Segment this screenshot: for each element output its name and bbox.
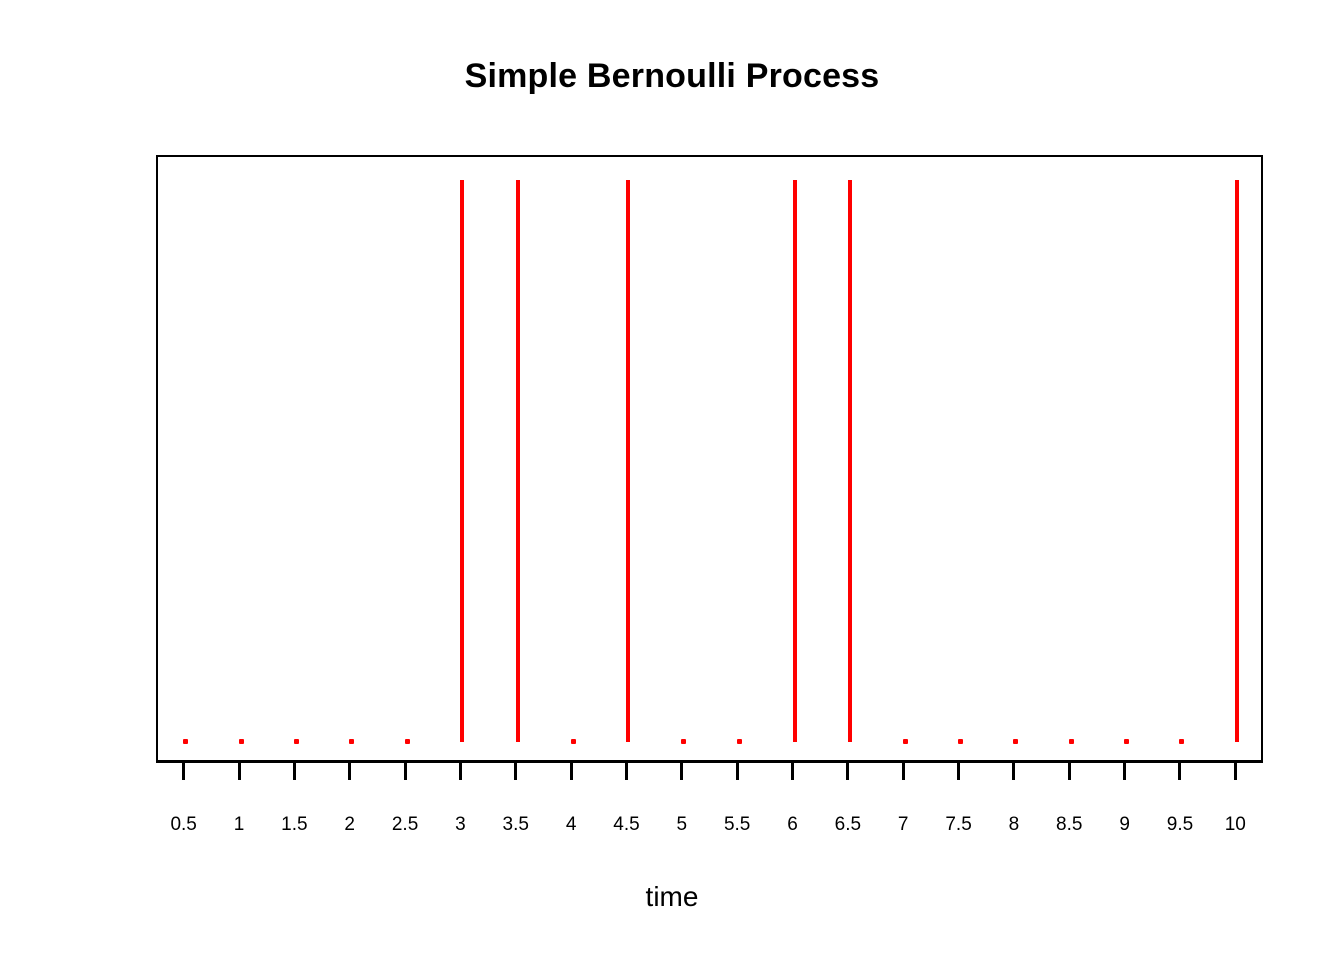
event-spike (460, 180, 464, 742)
plot-box (156, 155, 1263, 762)
x-tick (736, 762, 739, 780)
plot-root: Simple Bernoulli Process 0.511.522.533.5… (0, 0, 1344, 960)
event-dot (1179, 739, 1184, 744)
event-dot (183, 739, 188, 744)
event-dot (1069, 739, 1074, 744)
x-tick (625, 762, 628, 780)
plot-area (158, 157, 1261, 760)
x-tick (182, 762, 185, 780)
x-tick-label: 0.5 (170, 814, 196, 836)
x-tick-label: 8.5 (1056, 814, 1082, 836)
x-tick-label: 2 (344, 814, 355, 836)
x-tick (791, 762, 794, 780)
event-dot (405, 739, 410, 744)
x-tick (957, 762, 960, 780)
event-dot (294, 739, 299, 744)
x-tick-label: 6.5 (835, 814, 861, 836)
x-tick (1234, 762, 1237, 780)
x-tick (514, 762, 517, 780)
x-tick-label: 9 (1119, 814, 1130, 836)
x-tick (348, 762, 351, 780)
x-tick-label: 3.5 (503, 814, 529, 836)
x-tick (902, 762, 905, 780)
event-dot (737, 739, 742, 744)
x-tick-label: 7 (898, 814, 909, 836)
event-dot (571, 739, 576, 744)
x-tick (293, 762, 296, 780)
x-tick-label: 6 (787, 814, 798, 836)
event-spike (848, 180, 852, 742)
x-tick-label: 2.5 (392, 814, 418, 836)
x-axis-line (156, 760, 1263, 763)
x-tick (1012, 762, 1015, 780)
x-tick (238, 762, 241, 780)
x-tick-label: 4 (566, 814, 577, 836)
event-dot (903, 739, 908, 744)
x-tick-label: 10 (1225, 814, 1246, 836)
x-tick (459, 762, 462, 780)
x-tick (846, 762, 849, 780)
event-spike (793, 180, 797, 742)
event-spike (626, 180, 630, 742)
x-tick-label: 8 (1009, 814, 1020, 836)
x-axis-title: time (0, 880, 1344, 914)
x-tick (1178, 762, 1181, 780)
x-tick-label: 1.5 (281, 814, 307, 836)
event-dot (1013, 739, 1018, 744)
x-tick-label: 1 (234, 814, 245, 836)
event-dot (349, 739, 354, 744)
x-tick-label: 3 (455, 814, 466, 836)
page-title: Simple Bernoulli Process (0, 56, 1344, 96)
event-dot (958, 739, 963, 744)
event-dot (1124, 739, 1129, 744)
x-tick-label: 5.5 (724, 814, 750, 836)
event-dot (681, 739, 686, 744)
event-spike (1235, 180, 1239, 742)
x-tick-label: 5 (677, 814, 688, 836)
x-tick-label: 4.5 (613, 814, 639, 836)
event-spike (516, 180, 520, 742)
x-tick (1123, 762, 1126, 780)
x-tick (404, 762, 407, 780)
x-tick (680, 762, 683, 780)
x-tick-label: 9.5 (1167, 814, 1193, 836)
x-tick-label: 7.5 (945, 814, 971, 836)
x-tick (1068, 762, 1071, 780)
event-dot (239, 739, 244, 744)
x-tick (570, 762, 573, 780)
